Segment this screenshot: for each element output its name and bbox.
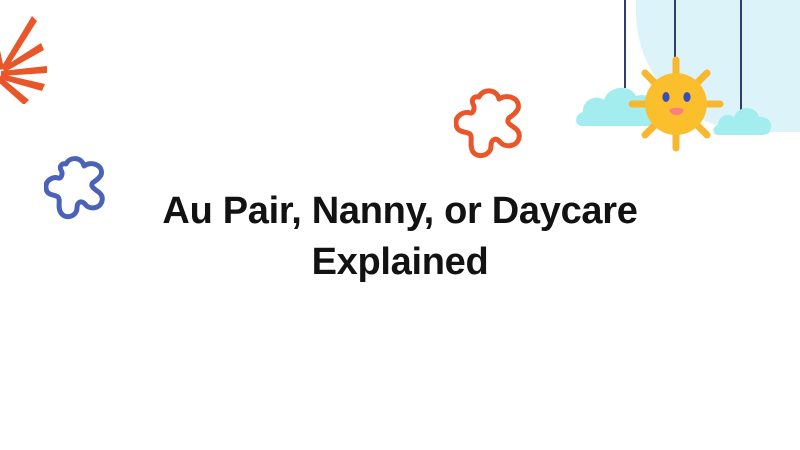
orange-blob-icon xyxy=(454,86,526,162)
slide-canvas: Au Pair, Nanny, or Daycare Explained xyxy=(0,0,800,450)
hanging-string-right xyxy=(740,0,742,112)
page-title-line-2: Explained xyxy=(0,237,800,288)
starburst-icon xyxy=(0,8,56,104)
hanging-string-left xyxy=(624,0,626,88)
page-title: Au Pair, Nanny, or Daycare Explained xyxy=(0,186,800,288)
page-title-line-1: Au Pair, Nanny, or Daycare xyxy=(0,186,800,237)
sun-icon xyxy=(628,56,724,152)
